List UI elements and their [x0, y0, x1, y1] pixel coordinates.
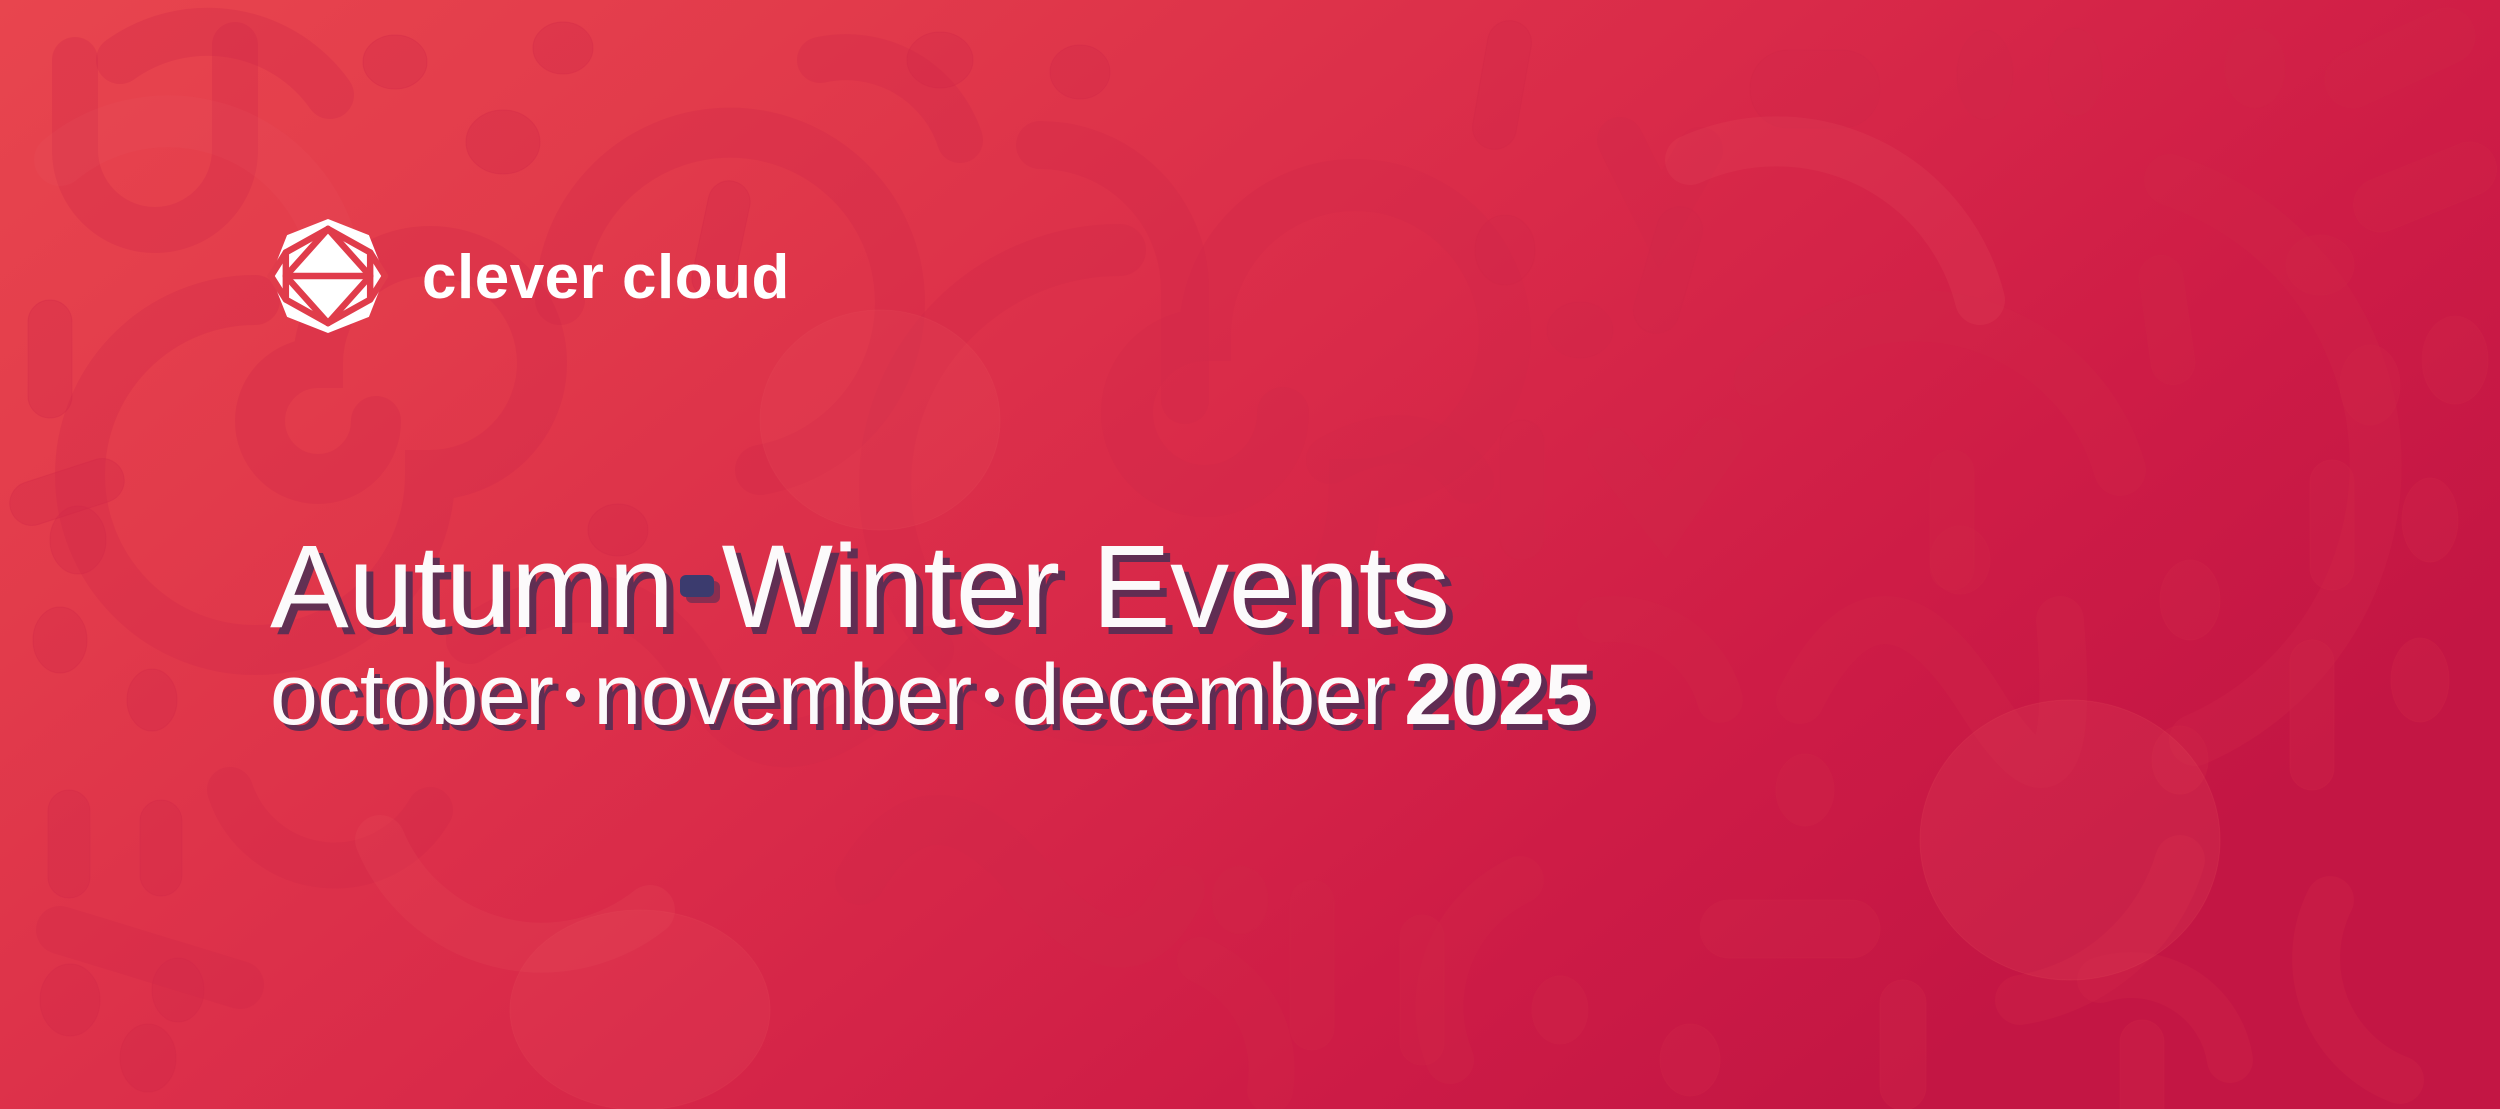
month-separator-dot [985, 688, 999, 702]
headline-part-two: Winter Events [722, 521, 1450, 653]
month-separator-dot [566, 688, 580, 702]
clever-cloud-wordmark: clever cloud [422, 247, 790, 309]
headline-part-one: Autumn [270, 521, 674, 653]
page-title: AutumnWinter Events [270, 528, 1592, 646]
brand-logo-lockup[interactable]: clever cloud [266, 214, 790, 338]
clever-cloud-icosahedron-logo-icon [266, 214, 390, 338]
month-november: november [593, 647, 971, 743]
event-year: 2025 [1404, 647, 1591, 743]
month-october: october [270, 647, 553, 743]
month-december: december [1012, 647, 1390, 743]
event-months-subtitle: octobernovemberdecember2025 [270, 652, 1592, 738]
event-banner: clever cloud AutumnWinter Events october… [0, 0, 2500, 1109]
headline-separator-dash [680, 575, 714, 597]
banner-text-block: AutumnWinter Events octobernovemberdecem… [270, 528, 1592, 738]
